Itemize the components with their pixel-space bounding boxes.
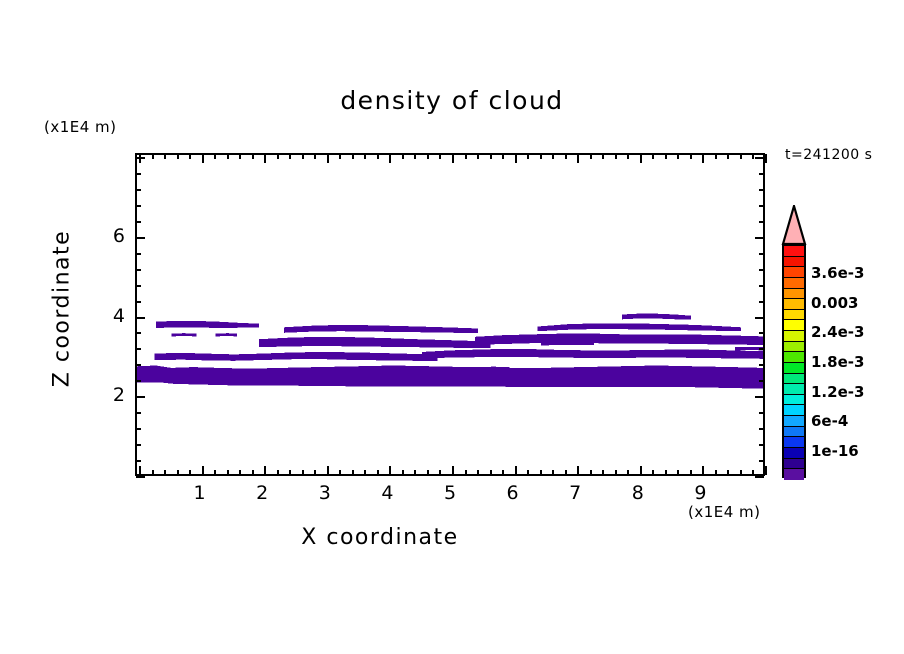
y-tick [136,332,141,334]
y-tick-label: 4 [85,305,125,327]
x-tick [752,470,754,475]
y-tick [136,285,141,287]
colorbar-band [784,405,804,416]
x-tick [602,154,604,159]
x-tick [640,466,642,475]
y-tick [136,269,141,271]
x-tick [715,154,717,159]
x-tick [502,470,504,475]
x-tick [202,154,204,163]
x-tick [239,154,241,159]
y-tick [759,189,764,191]
y-tick [755,476,764,478]
contour-band [215,333,237,336]
x-tick [327,154,329,163]
x-tick [702,466,704,475]
x-tick [339,470,341,475]
colorbar-tick-label: 0.003 [811,294,858,312]
colorbar-band [784,257,804,268]
x-tick [377,470,379,475]
x-tick [652,154,654,159]
colorbar-band [784,384,804,395]
x-tick [302,470,304,475]
y-tick [759,348,764,350]
x-tick [214,470,216,475]
x-tick [414,154,416,159]
y-tick-label: 6 [85,225,125,247]
y-tick [136,189,141,191]
x-tick [177,470,179,475]
x-tick [352,154,354,159]
x-tick [227,154,229,159]
x-tick-label: 9 [680,482,720,504]
y-tick [755,396,764,398]
y-tick [755,157,764,159]
x-tick [364,154,366,159]
x-tick [427,470,429,475]
x-tick [540,470,542,475]
colorbar-arrow-cap-icon [781,205,807,245]
colorbar-band [784,342,804,353]
y-tick [136,221,141,223]
x-tick [389,466,391,475]
colorbar-tick-label: 1.8e-3 [811,353,864,371]
y-tick [136,173,141,175]
y-tick [136,348,141,350]
x-tick [377,154,379,159]
contour-band [475,367,510,371]
colorbar-band [784,310,804,321]
x-tick [565,154,567,159]
x-tick-label: 6 [493,482,533,504]
x-tick [590,470,592,475]
y-tick [759,444,764,446]
x-tick [302,154,304,159]
x-tick [465,154,467,159]
x-tick [402,154,404,159]
y-tick [136,301,141,303]
contour-band [156,321,259,328]
x-tick [540,154,542,159]
colorbar-band [784,246,804,257]
colorbar-band [784,427,804,438]
contour-band [422,349,763,359]
x-tick [277,154,279,159]
x-tick [527,470,529,475]
colorbar-band [784,395,804,406]
colorbar-band [784,289,804,300]
x-axis-title: X coordinate [0,525,760,550]
x-tick [515,466,517,475]
colorbar-tick-label: 3.6e-3 [811,264,864,282]
y-tick [759,205,764,207]
x-tick [289,154,291,159]
x-tick [552,154,554,159]
y-tick [759,253,764,255]
contour-field [137,155,763,474]
x-tick [640,154,642,163]
x-tick [189,470,191,475]
x-tick [439,470,441,475]
contour-band [284,325,478,333]
x-tick [665,154,667,159]
y-tick [136,380,141,382]
x-tick [552,470,554,475]
x-tick [765,154,767,163]
colorbar-band [784,331,804,342]
x-tick [652,470,654,475]
x-tick [314,470,316,475]
y-tick [759,380,764,382]
y-tick-label: 2 [85,384,125,406]
y-tick [136,205,141,207]
x-tick-label: 2 [242,482,282,504]
x-tick [289,470,291,475]
y-tick [759,301,764,303]
x-tick-label: 8 [618,482,658,504]
y-tick [759,412,764,414]
colorbar-band [784,299,804,310]
y-tick [759,173,764,175]
colorbar-band [784,363,804,374]
x-tick [727,470,729,475]
x-tick-label: 5 [430,482,470,504]
x-tick [452,154,454,163]
y-tick [136,460,141,462]
x-tick [627,154,629,159]
x-tick [264,466,266,475]
x-tick [715,470,717,475]
colorbar-tick-label: 1.2e-3 [811,383,864,401]
contour-band [622,314,691,320]
x-tick [502,154,504,159]
x-tick [490,470,492,475]
x-tick [515,154,517,163]
x-tick [314,154,316,159]
x-tick [465,470,467,475]
x-tick [565,470,567,475]
x-tick [615,470,617,475]
colorbar-band [784,448,804,459]
x-tick [252,470,254,475]
y-unit-label: (x1E4 m) [44,118,117,136]
contour-band [155,357,176,360]
x-tick [227,470,229,475]
colorbar-tick-label: 1e-16 [811,442,859,460]
contour-band [137,366,763,379]
colorbar-band [784,469,804,480]
x-tick [627,470,629,475]
plot-data-area [137,155,763,474]
x-tick [740,470,742,475]
x-tick [339,154,341,159]
y-tick [136,428,141,430]
y-tick [755,237,764,239]
y-tick [755,317,764,319]
y-tick [759,269,764,271]
y-tick [759,285,764,287]
x-tick [727,154,729,159]
x-tick [477,470,479,475]
y-tick [136,157,145,159]
x-tick-label: 4 [367,482,407,504]
y-tick [136,317,145,319]
plot-frame [135,153,765,476]
x-tick [690,154,692,159]
colorbar-tick-label: 2.4e-3 [811,323,864,341]
colorbar-band [784,374,804,385]
colorbar-bands [782,244,806,478]
x-tick [740,154,742,159]
x-tick [615,154,617,159]
y-tick [136,364,141,366]
colorbar-band [784,267,804,278]
colorbar-band [784,416,804,427]
x-tick [164,470,166,475]
y-tick [759,428,764,430]
x-tick [602,470,604,475]
contour-band [171,333,196,336]
x-tick [389,154,391,163]
x-tick [577,154,579,163]
colorbar-band [784,437,804,448]
y-tick [136,237,145,239]
y-tick [759,364,764,366]
x-unit-label: (x1E4 m) [688,503,761,521]
time-annotation: t=241200 s [785,147,872,163]
x-tick [702,154,704,163]
x-tick [177,154,179,159]
contour-band [155,352,438,361]
y-axis-title: Z coordinate [50,229,75,389]
x-tick [765,466,767,475]
x-tick-label: 1 [180,482,220,504]
x-tick [677,154,679,159]
x-tick [527,154,529,159]
x-tick [189,154,191,159]
colorbar-tick-label: 6e-4 [811,412,848,430]
x-tick [214,154,216,159]
x-tick [139,466,141,475]
x-tick [414,470,416,475]
x-tick [152,154,154,159]
x-tick [327,466,329,475]
x-tick [452,466,454,475]
x-tick-label: 3 [305,482,345,504]
x-tick [577,466,579,475]
x-tick [152,470,154,475]
page-title: density of cloud [0,86,904,115]
y-tick [759,221,764,223]
colorbar-band [784,459,804,470]
x-tick [665,470,667,475]
colorbar-band [784,320,804,331]
x-tick [690,470,692,475]
x-tick-label: 7 [555,482,595,504]
x-tick [402,470,404,475]
y-tick [136,476,145,478]
x-tick [590,154,592,159]
contour-band [259,337,491,348]
y-tick [136,412,141,414]
x-tick [164,154,166,159]
x-tick [252,154,254,159]
y-tick [136,396,145,398]
x-tick [239,470,241,475]
contour-band [538,323,742,331]
x-tick [439,154,441,159]
x-tick [202,466,204,475]
x-tick [490,154,492,159]
figure-canvas: density of cloud (x1E4 m) (x1E4 m) t=241… [0,0,904,654]
x-tick [677,470,679,475]
colorbar-band [784,278,804,289]
y-tick [136,444,141,446]
x-tick [427,154,429,159]
contour-band [475,334,763,345]
colorbar [781,205,807,478]
y-tick [759,332,764,334]
x-tick [277,470,279,475]
y-tick [136,253,141,255]
x-tick [352,470,354,475]
y-tick [759,460,764,462]
x-tick [477,154,479,159]
x-tick [264,154,266,163]
x-tick [364,470,366,475]
colorbar-band [784,352,804,363]
